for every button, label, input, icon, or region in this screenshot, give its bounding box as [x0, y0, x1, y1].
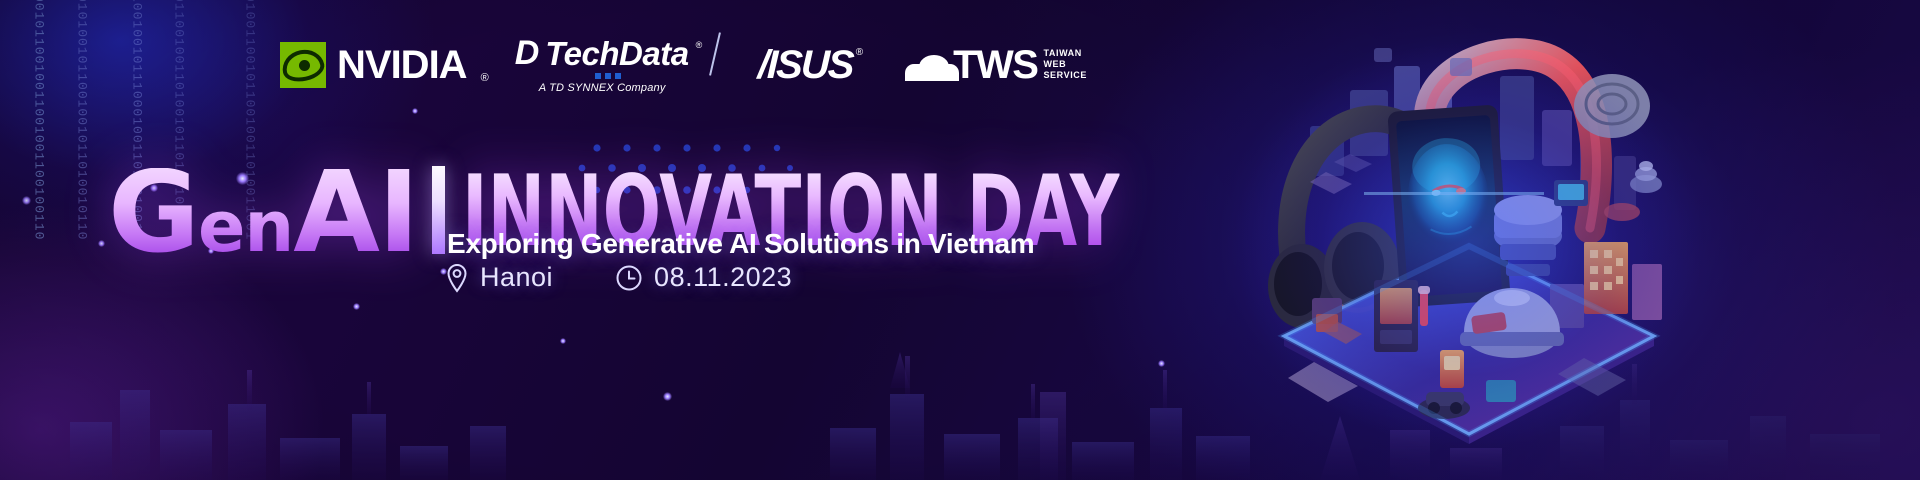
tws-tagline-line-3: SERVICE	[1043, 70, 1087, 81]
glow-dot	[22, 196, 31, 205]
nvidia-wordmark: NVIDIA	[337, 45, 467, 85]
event-subtitle: Exploring Generative AI Solutions in Vie…	[447, 228, 1034, 260]
tws-tagline: TAIWAN WEB SERVICE	[1043, 48, 1087, 81]
headline-divider-bar	[432, 166, 445, 254]
event-location-label: Hanoi	[480, 262, 553, 293]
genai-logotype: G en AI	[108, 168, 418, 260]
event-meta-row: Hanoi 08.11.2023	[445, 262, 792, 293]
map-pin-icon	[445, 263, 469, 293]
glow-dot	[663, 392, 672, 401]
glow-dot	[560, 338, 566, 344]
glow-dot	[353, 303, 360, 310]
asus-trademark: ®	[856, 47, 863, 58]
genai-letters-en: en	[198, 199, 293, 256]
nvidia-eye-logo-icon	[280, 42, 326, 88]
asus-wordmark: /ISUS	[758, 45, 854, 85]
techdata-tagline: A TD SYNNEX Company	[539, 82, 666, 94]
ai-tech-city-svg	[1254, 14, 1684, 454]
techdata-wordmark: TechData	[545, 37, 688, 70]
glow-dot	[1158, 360, 1165, 367]
glow-dot	[98, 240, 105, 247]
binary-stream-2: 0101001011001001011010010110	[75, 0, 88, 244]
tws-tagline-line-1: TAIWAN	[1043, 48, 1087, 59]
genai-letters-ai: AI	[293, 168, 417, 260]
tws-tagline-line-2: WEB	[1043, 59, 1087, 70]
genai-innovation-day-banner: 0010110010011001001100100110 01010010110…	[0, 0, 1920, 480]
sponsor-logo-row: NVIDIA ® D TechData ® A TD SYNNEX Compan…	[280, 36, 1087, 94]
event-date-label: 08.11.2023	[654, 262, 792, 293]
tws-wordmark: TWS	[953, 47, 1037, 83]
sponsor-logo-techdata: D TechData ® A TD SYNNEX Company	[515, 36, 703, 94]
binary-stream-5: 0100110010110010011010011001	[243, 0, 256, 154]
techdata-wordmark-row: D TechData ®	[515, 36, 703, 70]
tws-cloud-logo-icon	[905, 55, 959, 81]
techdata-d-logo-icon: D	[515, 36, 539, 70]
techdata-slash-rule	[709, 32, 721, 75]
genai-letter-g: G	[108, 168, 198, 260]
event-date: 08.11.2023	[615, 262, 792, 293]
sponsor-logo-tws: TWS TAIWAN WEB SERVICE	[905, 47, 1087, 83]
glow-dot	[412, 108, 418, 114]
binary-stream-1: 0010110010011001001100100110	[32, 0, 45, 194]
ai-tech-city-illustration	[1254, 14, 1684, 454]
event-location: Hanoi	[445, 262, 553, 293]
nvidia-trademark: ®	[481, 72, 489, 84]
clock-icon	[615, 264, 643, 292]
techdata-square-accents	[595, 73, 621, 79]
sponsor-logo-nvidia: NVIDIA ®	[280, 42, 489, 88]
sponsor-logo-asus: /ISUS ®	[758, 45, 863, 85]
techdata-trademark: ®	[696, 40, 703, 50]
